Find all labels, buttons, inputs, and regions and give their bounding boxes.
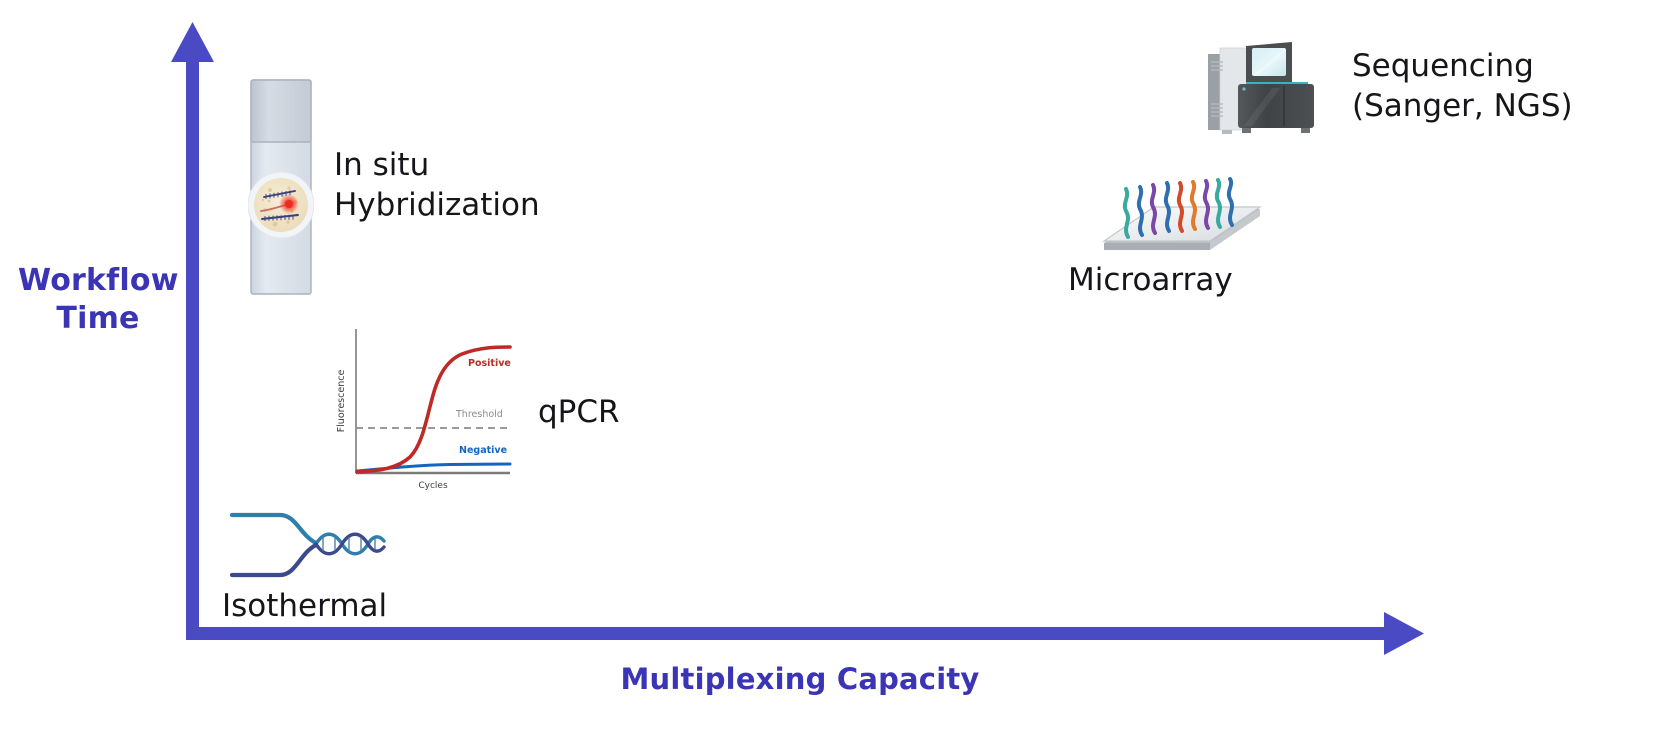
sequencing-label-line2: (Sanger, NGS) bbox=[1352, 88, 1573, 124]
microscope-slide-icon bbox=[248, 78, 314, 296]
sequencer-machine-icon bbox=[1198, 38, 1330, 138]
qpcr-ylabel: Fluorescence bbox=[336, 370, 347, 433]
microarray-label: Microarray bbox=[1068, 260, 1233, 300]
amplification-curve-chart-icon: Fluorescence Cycles Positive Threshold N… bbox=[330, 325, 512, 493]
y-axis-title-line2: Time bbox=[56, 301, 139, 336]
insitu-label-line2: Hybridization bbox=[334, 187, 540, 223]
dna-strand-lower bbox=[232, 545, 316, 575]
microarray-chip-icon bbox=[1092, 165, 1272, 275]
qpcr-annotation-negative: Negative bbox=[459, 445, 507, 456]
insitu-label-line1: In situ bbox=[334, 147, 429, 183]
qpcr-label: qPCR bbox=[538, 392, 620, 432]
qpcr-xlabel: Cycles bbox=[418, 481, 448, 491]
sequencing-label: Sequencing(Sanger, NGS) bbox=[1352, 46, 1573, 126]
y-axis-arrow-icon bbox=[171, 22, 214, 62]
qpcr-annotation-positive: Positive bbox=[468, 358, 511, 369]
y-axis-title-line1: Workflow bbox=[18, 263, 179, 298]
y-axis-title: WorkflowTime bbox=[18, 262, 178, 338]
insitu-hybridization-label: In situHybridization bbox=[334, 145, 540, 225]
dna-helix bbox=[316, 534, 384, 554]
isothermal-label: Isothermal bbox=[222, 586, 387, 626]
dna-strand-upper bbox=[232, 515, 316, 543]
x-axis-title: Multiplexing Capacity bbox=[540, 662, 1060, 696]
sequencing-label-line1: Sequencing bbox=[1352, 48, 1534, 84]
x-axis-arrow-icon bbox=[1384, 612, 1424, 655]
dna-strands-icon bbox=[228, 505, 388, 585]
qpcr-annotation-threshold: Threshold bbox=[455, 409, 503, 420]
